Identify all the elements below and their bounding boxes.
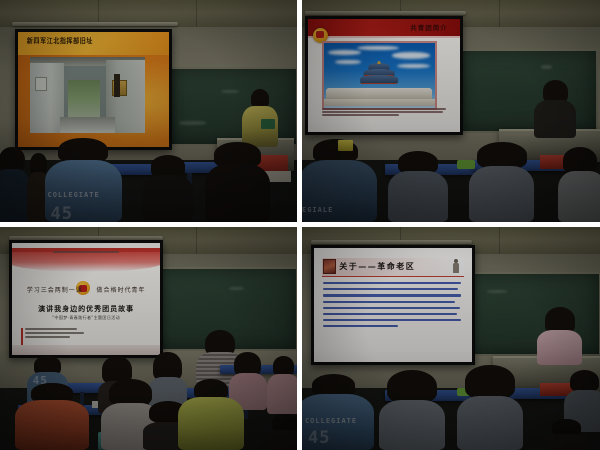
projection-screen: 学习三会两制一课 做合格时代青年 演讲我身边的优秀团员故事 "中国梦·青春践行者… — [9, 240, 164, 358]
slide-banner-title: 新四军江北指挥部旧址 — [27, 36, 93, 46]
audience-member-smiling — [379, 370, 445, 450]
collage-panel-bottom-right[interactable]: 关于——革命老区 — [302, 227, 600, 450]
slide-bottom-left: 学习三会两制一课 做合格时代青年 演讲我身边的优秀团员故事 "中国梦·青春践行者… — [12, 243, 161, 355]
slide-photo-temple — [322, 41, 437, 110]
slide-main-title: 演讲我身边的优秀团员故事 — [12, 304, 161, 314]
collage-panel-top-right[interactable]: 共青团简介 — [302, 0, 600, 222]
audience-member — [205, 142, 270, 222]
slide-meta-lines — [25, 328, 93, 340]
audience-member — [457, 365, 523, 450]
audience-member-orange — [15, 383, 89, 450]
screen-roller-bar — [311, 240, 472, 244]
slide-heading-right: 做合格时代青年 — [97, 285, 146, 294]
collage-panel-top-left[interactable]: 新四军江北指挥部旧址 — [0, 0, 297, 222]
hoodie-number: 45 — [50, 204, 72, 222]
slide-header-title: 共青团简介 — [410, 22, 448, 32]
slide-photo-corridor — [30, 57, 145, 133]
slide-accent-bar — [21, 328, 23, 346]
audience-member — [558, 147, 600, 222]
hoodie-number: 45 — [308, 428, 330, 448]
slide-top-right: 共青团简介 — [308, 19, 460, 132]
presenter — [534, 80, 576, 138]
audience-member — [267, 414, 297, 450]
presenter — [241, 89, 280, 147]
slide-caption — [322, 108, 447, 118]
slide-header-strip — [53, 251, 118, 255]
collage-panel-bottom-left[interactable]: 学习三会两制一课 做合格时代青年 演讲我身边的优秀团员故事 "中国梦·青春践行者… — [0, 227, 297, 450]
slide-heading-left: 学习三会两制一课 — [27, 285, 83, 294]
slide-body-text — [323, 282, 462, 332]
classroom-photo-bottom-left: 学习三会两制一课 做合格时代青年 演讲我身边的优秀团员故事 "中国梦·青春践行者… — [0, 227, 297, 450]
slide-top-left: 新四军江北指挥部旧址 — [18, 32, 169, 147]
projection-screen: 新四军江北指挥部旧址 — [15, 29, 172, 150]
hoodie-text: EGIALE — [302, 206, 333, 214]
photo-collage: 新四军江北指挥部旧址 — [0, 0, 600, 450]
projection-screen: 关于——革命老区 — [311, 245, 475, 365]
hoodie-text: COLLEGIATE — [48, 191, 100, 199]
phone-icon — [338, 140, 353, 151]
slide-footer — [12, 345, 161, 355]
classroom-photo-top-right: 共青团简介 — [302, 0, 600, 222]
classroom-photo-bottom-right: 关于——革命老区 — [302, 227, 600, 450]
classroom-photo-top-left: 新四军江北指挥部旧址 — [0, 0, 297, 222]
screen-roller-bar — [12, 22, 178, 26]
slide-bottom-right: 关于——革命老区 — [314, 248, 472, 362]
audience-member — [546, 419, 588, 450]
projection-screen: 共青团简介 — [305, 16, 463, 135]
audience-member-yellow — [178, 379, 243, 450]
audience-member — [267, 356, 297, 414]
slide-title: 关于——革命老区 — [339, 261, 415, 272]
seal-icon — [323, 259, 336, 274]
audience-member — [469, 142, 535, 222]
figure-icon — [452, 259, 461, 273]
chalkboard — [457, 49, 598, 133]
screen-roller-bar — [9, 236, 163, 240]
audience-member — [143, 155, 193, 222]
slide-sub-title: "中国梦·青春践行者"主题团日活动 — [12, 315, 161, 321]
audience-member — [388, 151, 448, 222]
audience-member — [0, 147, 30, 222]
presenter — [537, 307, 582, 365]
hoodie-text: COLLEGIATE — [305, 417, 357, 425]
screen-roller-bar — [305, 11, 466, 15]
